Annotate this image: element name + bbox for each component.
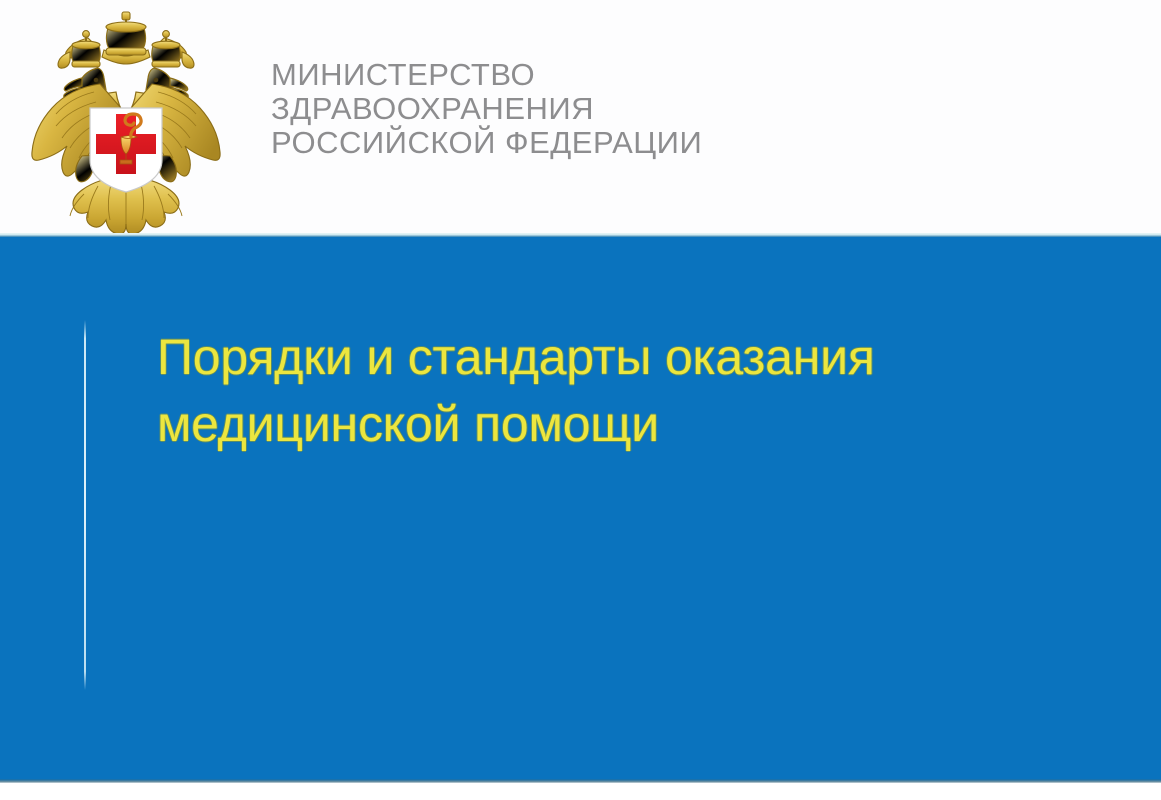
ministry-of-health-emblem-icon [26, 10, 226, 235]
ministry-name-line-1: МИНИСТЕРСТВО [271, 58, 891, 92]
slide-body-panel [0, 237, 1161, 783]
page-title-line-1: Порядки и стандарты оказания [157, 324, 1087, 391]
page-title-line-2: медицинской помощи [157, 391, 1087, 458]
slide-header: МИНИСТЕРСТВО ЗДРАВООХРАНЕНИЯ РОССИЙСКОЙ … [0, 0, 1161, 237]
ministry-name-line-2: ЗДРАВООХРАНЕНИЯ [271, 92, 891, 126]
slide-footer [0, 783, 1161, 800]
page-title: Порядки и стандарты оказания медицинской… [157, 324, 1087, 458]
title-accent-vertical-rule [84, 320, 86, 690]
presentation-slide: МИНИСТЕРСТВО ЗДРАВООХРАНЕНИЯ РОССИЙСКОЙ … [0, 0, 1161, 800]
ministry-name-line-3: РОССИЙСКОЙ ФЕДЕРАЦИИ [271, 126, 891, 160]
ministry-name: МИНИСТЕРСТВО ЗДРАВООХРАНЕНИЯ РОССИЙСКОЙ … [271, 58, 891, 160]
